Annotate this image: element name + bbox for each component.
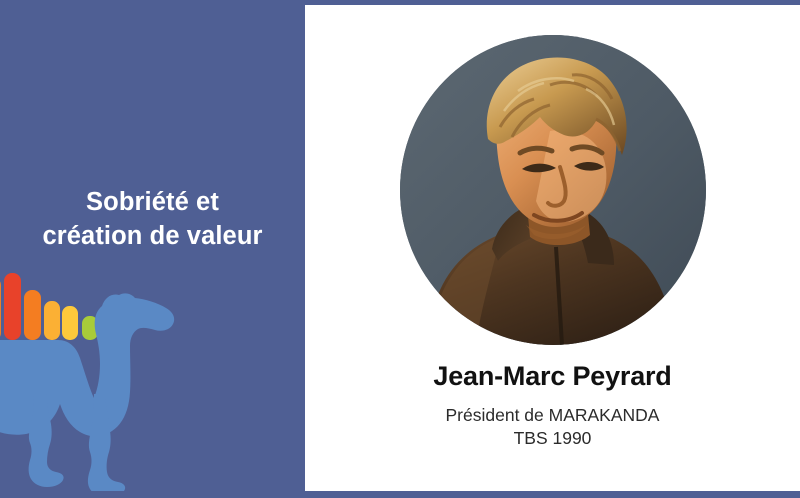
speaker-portrait-photo (400, 35, 706, 345)
logo-bars (0, 273, 98, 340)
right-white-panel: Jean-Marc Peyrard Président de MARAKANDA… (305, 0, 800, 498)
left-blue-panel: Sobriété et création de valeur (0, 0, 305, 498)
speaker-name: Jean-Marc Peyrard (305, 362, 800, 392)
speaker-card: Sobriété et création de valeur (0, 0, 800, 498)
speaker-caption: Jean-Marc Peyrard Président de MARAKANDA… (305, 362, 800, 451)
bottom-accent-rule (0, 491, 800, 498)
panel-title: Sobriété et création de valeur (0, 186, 305, 253)
speaker-affiliation: TBS 1990 (305, 427, 800, 451)
camel-bar-chart-logo (0, 268, 190, 498)
speaker-role: Président de MARAKANDA (305, 404, 800, 428)
top-accent-rule (0, 0, 800, 5)
